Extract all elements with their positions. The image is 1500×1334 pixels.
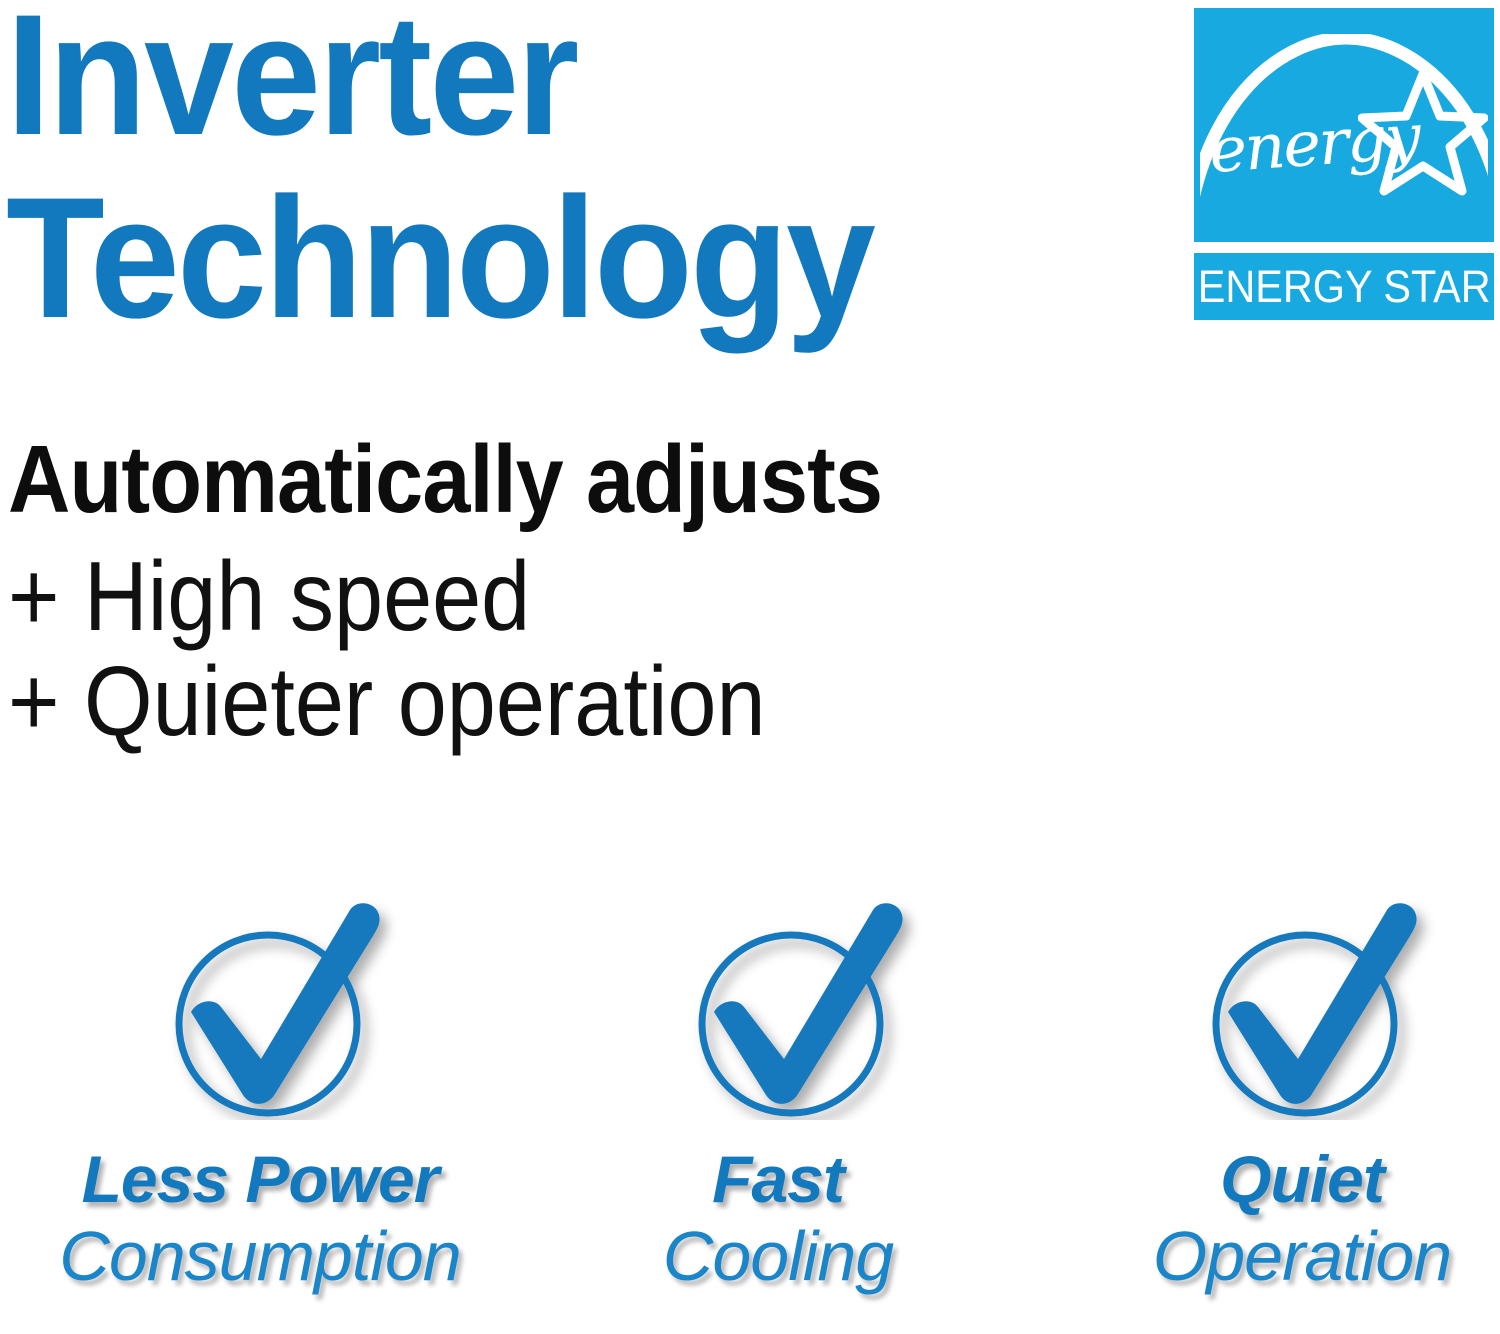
- check-circle-icon: [678, 890, 928, 1120]
- check-circle-icon: [155, 890, 405, 1120]
- feature-row: Less Power Consumption Fast Cooling: [0, 870, 1500, 1334]
- energy-star-label: ENERGY STAR: [1198, 261, 1491, 313]
- feature-label-strong: Quiet: [1052, 1142, 1500, 1216]
- feature-label-light: Cooling: [528, 1216, 1028, 1296]
- bullet-quieter-operation: + Quieter operation: [8, 650, 766, 752]
- energy-star-logo: energy ENERGY STAR: [1194, 8, 1494, 320]
- check-circle-icon: [1192, 890, 1442, 1120]
- feature-label-light: Consumption: [10, 1216, 510, 1296]
- feature-labels: Fast Cooling: [528, 1142, 1028, 1296]
- energy-star-logo-top-panel: energy: [1194, 8, 1494, 242]
- energy-star-logo-band: ENERGY STAR: [1194, 253, 1494, 320]
- feature-labels: Less Power Consumption: [10, 1142, 510, 1296]
- feature-label-light: Operation: [1052, 1216, 1500, 1296]
- bullet-high-speed: + High speed: [8, 545, 530, 647]
- page-title: Inverter Technology: [6, 0, 1059, 350]
- feature-item-quiet-operation: Quiet Operation: [1040, 870, 1500, 1334]
- feature-label-strong: Less Power: [10, 1142, 510, 1216]
- feature-label-strong: Fast: [528, 1142, 1028, 1216]
- star-outline-icon: [1358, 68, 1488, 203]
- sub-heading: Automatically adjusts: [8, 430, 882, 530]
- feature-labels: Quiet Operation: [1052, 1142, 1500, 1296]
- feature-item-less-power: Less Power Consumption: [10, 870, 510, 1334]
- feature-item-fast-cooling: Fast Cooling: [528, 870, 1028, 1334]
